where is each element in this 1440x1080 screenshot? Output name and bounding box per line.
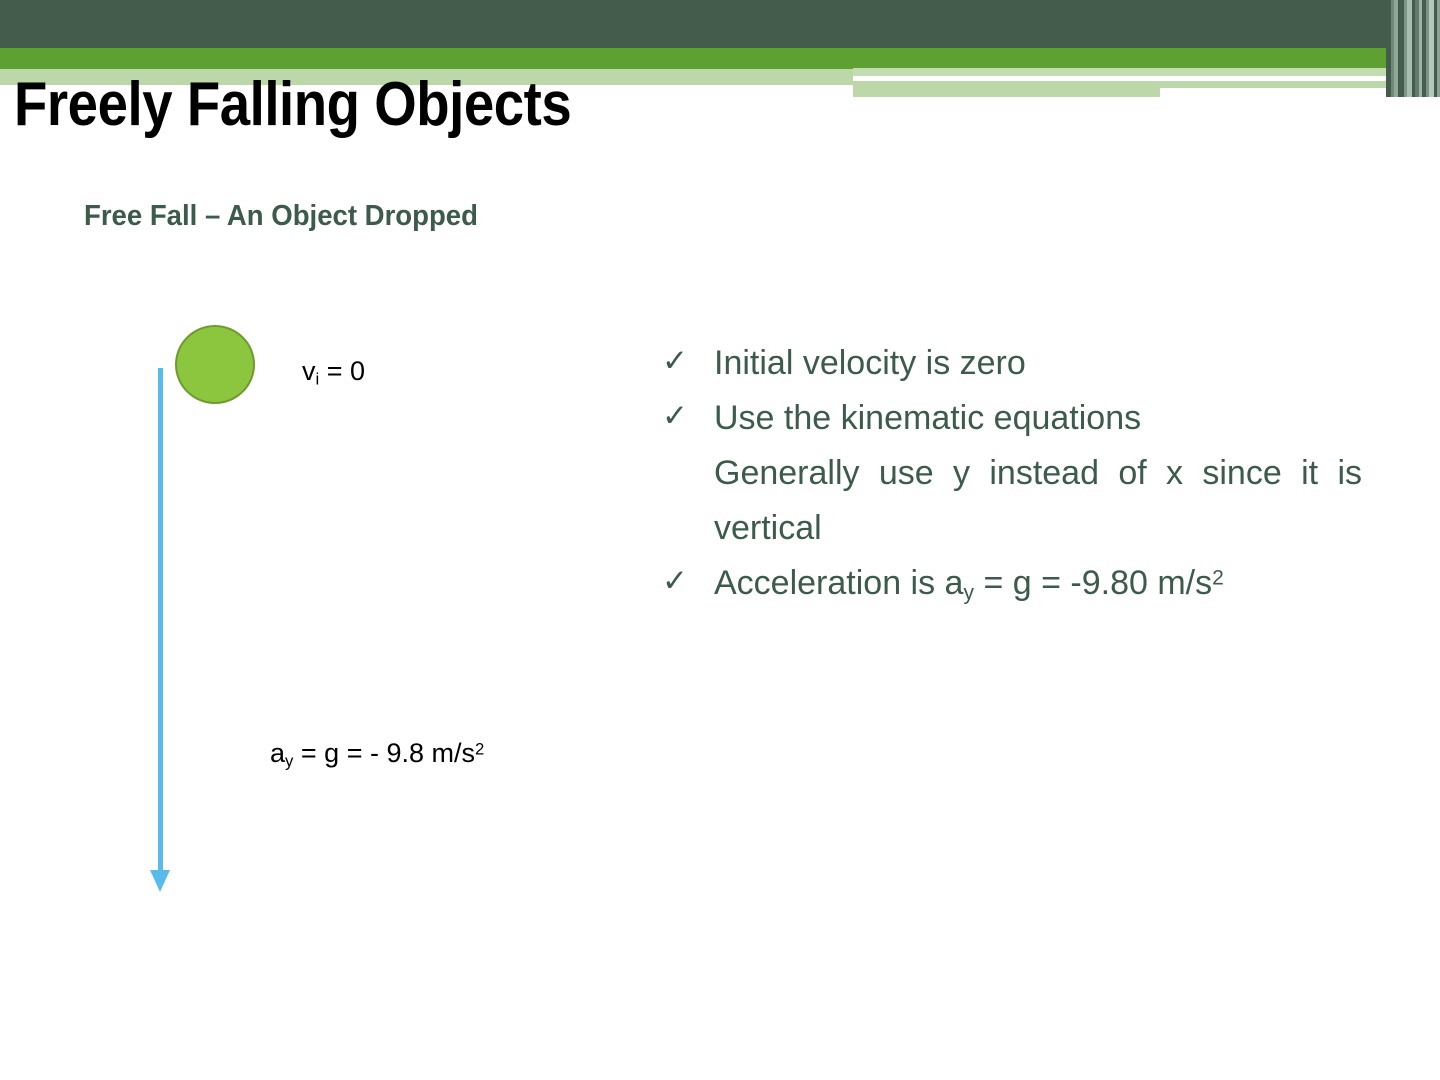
- list-item-label: Initial velocity is zero: [714, 336, 1362, 391]
- header-white-rule: [856, 76, 1330, 81]
- list-item: Generally use y instead of x since it is…: [662, 446, 1362, 556]
- accel-subscript: y: [963, 582, 974, 605]
- falling-ball-icon: [175, 325, 255, 404]
- header-green-band-left: [0, 48, 853, 69]
- list-item: ✓ Use the kinematic equations: [662, 391, 1362, 446]
- section-subtitle: Free Fall – An Object Dropped: [84, 200, 478, 233]
- slide-canvas: Freely Falling Objects Free Fall – An Ob…: [0, 0, 1440, 1080]
- bullet-list: ✓ Initial velocity is zero ✓ Use the kin…: [662, 336, 1362, 611]
- accel-lead: Acceleration is: [714, 564, 945, 602]
- header-vertical-stripes: [1386, 0, 1440, 97]
- ay-rest: = g = - 9.8 m/s: [293, 738, 475, 768]
- accel-rest: = g = -9.80 m/s: [974, 564, 1212, 602]
- header-dark-band: [0, 0, 1440, 48]
- checkmark-icon: ✓: [662, 336, 714, 386]
- down-arrow-icon: [150, 870, 170, 892]
- list-item-label: Use the kinematic equations: [714, 391, 1362, 446]
- checkmark-icon: ✓: [662, 556, 714, 606]
- list-item-label: Acceleration is ay = g = -9.80 m/s2: [714, 556, 1362, 611]
- initial-velocity-label: vi = 0: [302, 356, 365, 389]
- down-arrow-shaft: [158, 368, 163, 873]
- vi-rest: = 0: [319, 356, 365, 386]
- list-item-label: Generally use y instead of x since it is…: [714, 446, 1362, 556]
- acceleration-label: ay = g = - 9.8 m/s2: [270, 738, 484, 771]
- header-light-band-right-a: [853, 68, 1440, 76]
- vi-quantity: v: [302, 356, 316, 386]
- checkmark-icon: ✓: [662, 391, 714, 441]
- accel-superscript: 2: [1212, 567, 1224, 590]
- ay-superscript: 2: [475, 739, 484, 758]
- list-item: ✓ Acceleration is ay = g = -9.80 m/s2: [662, 556, 1362, 611]
- page-title: Freely Falling Objects: [14, 72, 571, 137]
- ay-quantity: a: [270, 738, 285, 768]
- list-item: ✓ Initial velocity is zero: [662, 336, 1362, 391]
- accel-quantity: a: [945, 564, 964, 602]
- header-green-band-right: [853, 48, 1440, 68]
